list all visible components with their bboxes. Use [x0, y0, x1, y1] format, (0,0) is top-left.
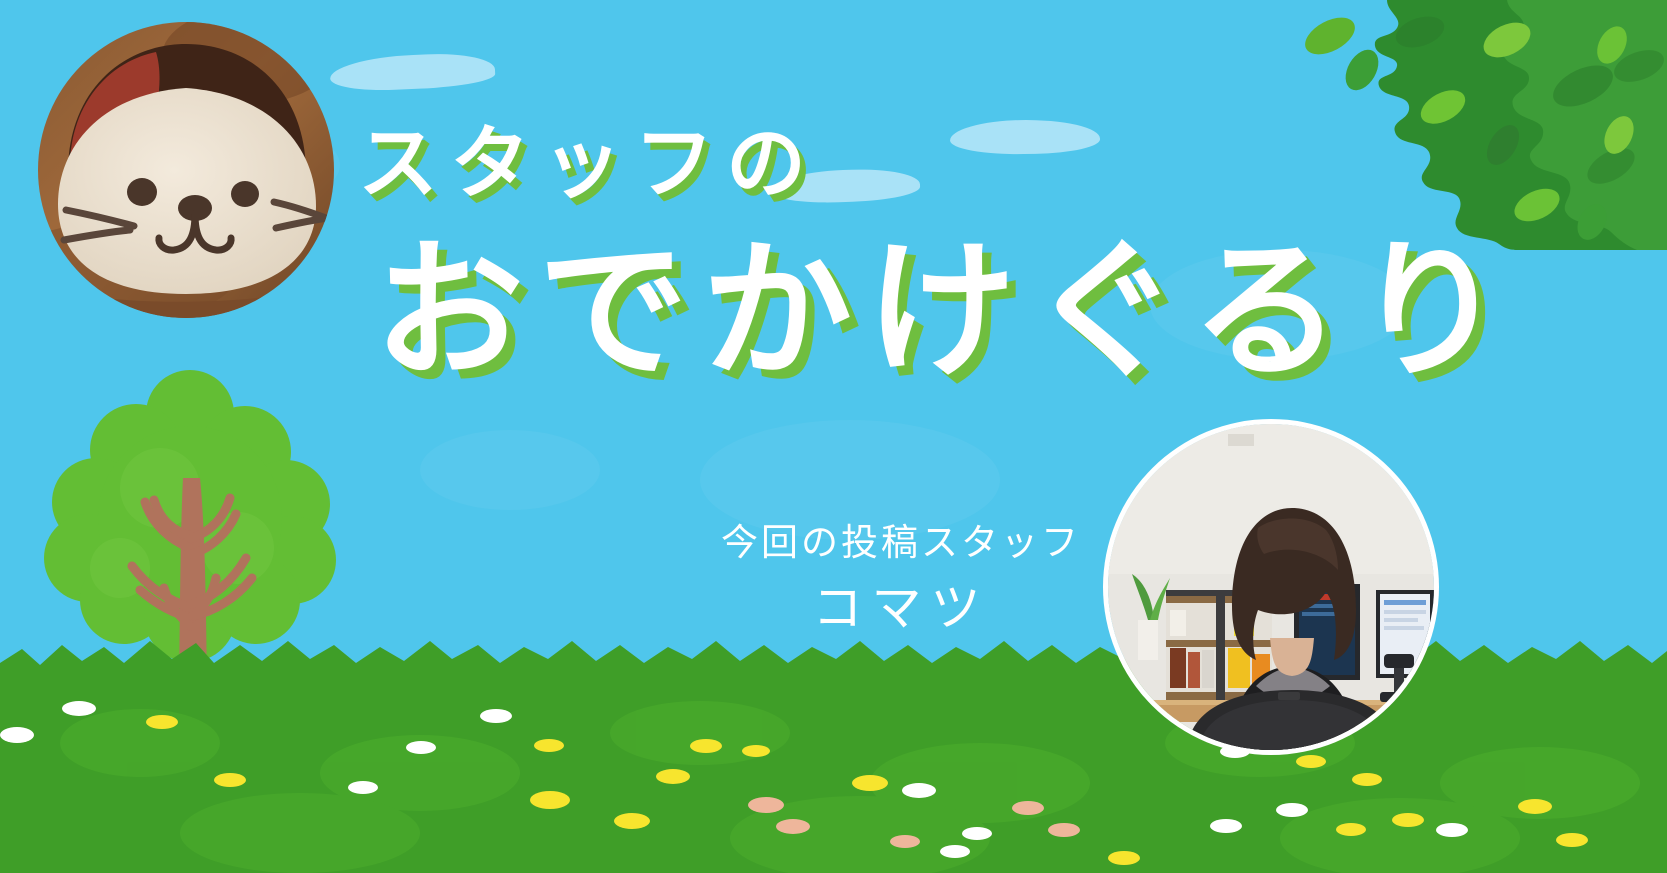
flower [1108, 851, 1140, 865]
flower [1048, 823, 1080, 837]
flower [1518, 799, 1552, 814]
flower [690, 739, 722, 753]
flower [890, 835, 920, 848]
flower [614, 813, 650, 829]
flower [406, 741, 436, 754]
flower [1296, 755, 1326, 768]
flower [214, 773, 246, 787]
flower [940, 845, 970, 858]
staff-label: 今回の投稿スタッフ [716, 524, 1086, 561]
flower [1436, 823, 1468, 837]
flower [530, 791, 570, 809]
flower [534, 739, 564, 752]
flower [1556, 833, 1588, 847]
flower [1012, 801, 1044, 815]
flower [0, 727, 34, 743]
flower [1336, 823, 1366, 836]
flower [1210, 819, 1242, 833]
flower [776, 819, 810, 834]
title-subtitle: スタッフの [358, 124, 818, 204]
flower-layer [0, 623, 1667, 873]
title-main: おでかけぐるり [374, 236, 1519, 389]
flower [742, 745, 770, 757]
staff-photo-komatsu[interactable] [1108, 424, 1434, 750]
flower [962, 827, 992, 840]
grass-foreground [0, 623, 1667, 873]
flower [902, 783, 936, 798]
flower [62, 701, 96, 716]
flower [348, 781, 378, 794]
avatar-cat-photo[interactable] [38, 22, 334, 318]
flower [852, 775, 888, 791]
staff-name: コマツ [716, 583, 1086, 633]
flower [480, 709, 512, 723]
flower [146, 715, 178, 729]
staff-caption-block: 今回の投稿スタッフ コマツ [716, 524, 1086, 633]
flower [656, 769, 690, 784]
flower [1352, 773, 1382, 786]
flower [748, 797, 784, 813]
flower [1392, 813, 1424, 827]
staff-outing-banner: スタッフの おでかけぐるり 今回の投稿スタッフ コマツ [0, 0, 1667, 873]
flower [1276, 803, 1308, 817]
